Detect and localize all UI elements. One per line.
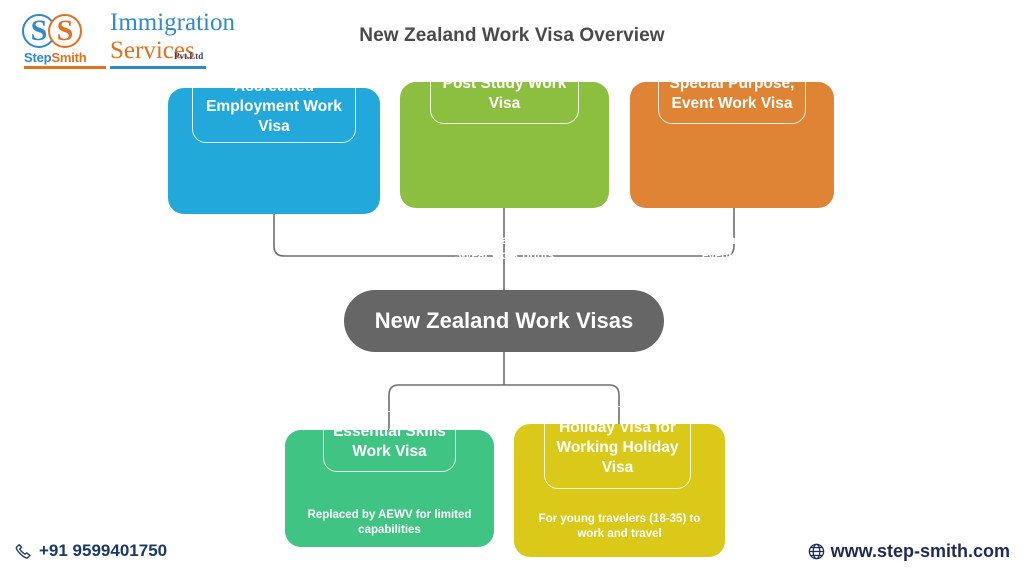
phone-number-text: +91 9599401750 xyxy=(39,541,167,561)
visa-card-description: For short-term project and event work xyxy=(644,234,820,264)
logo-brand-name: StepSmith xyxy=(24,50,87,65)
visa-card-description: For young travelers (18-35) to work and … xyxy=(528,512,711,542)
page-title: New Zealand Work Visa Overview xyxy=(0,25,1024,47)
logo-rule-blue xyxy=(110,66,206,69)
visa-card-description: For international students with 3-year w… xyxy=(414,234,595,264)
visa-card-description: Requires job offer and median wage xyxy=(182,260,366,290)
logo-suffix-text: Pvt.Ltd xyxy=(174,51,203,61)
logo-brand-step: Step xyxy=(24,50,51,65)
diagram-hub-node[interactable]: New Zealand Work Visas xyxy=(344,290,664,352)
contact-website[interactable]: www.step-smith.com xyxy=(807,541,1010,562)
visa-card-special-purpose-event[interactable]: Special Purpose, Event Work Visa For sho… xyxy=(630,82,834,208)
contact-phone[interactable]: +91 9599401750 xyxy=(14,541,167,561)
visa-card-essential-skills[interactable]: Essential Skills Work Visa Replaced by A… xyxy=(285,430,494,547)
phone-icon xyxy=(14,542,33,561)
website-url-text: www.step-smith.com xyxy=(831,541,1010,562)
visa-card-title: Essential Skills Work Visa xyxy=(323,411,456,472)
globe-icon xyxy=(807,542,826,561)
logo-brand-smith: Smith xyxy=(51,50,86,65)
visa-card-title: Holiday Visa for Working Holiday Visa xyxy=(544,406,691,489)
visa-card-title: Accredited Employment Work Visa xyxy=(192,70,356,143)
logo-rule-orange xyxy=(24,66,106,69)
visa-card-working-holiday[interactable]: Holiday Visa for Working Holiday Visa Fo… xyxy=(514,424,725,557)
visa-card-post-study-work[interactable]: Post Study Work Visa For international s… xyxy=(400,82,609,208)
visa-card-accredited-employment[interactable]: Accredited Employment Work Visa Requires… xyxy=(168,88,380,214)
infographic-canvas: S S StepSmith Immigration Services Pvt.L… xyxy=(0,0,1024,576)
visa-card-description: Replaced by AEWV for limited capabilitie… xyxy=(299,508,480,538)
visa-card-title: Special Purpose, Event Work Visa xyxy=(658,64,806,124)
visa-card-title: Post Study Work Visa xyxy=(430,64,579,124)
